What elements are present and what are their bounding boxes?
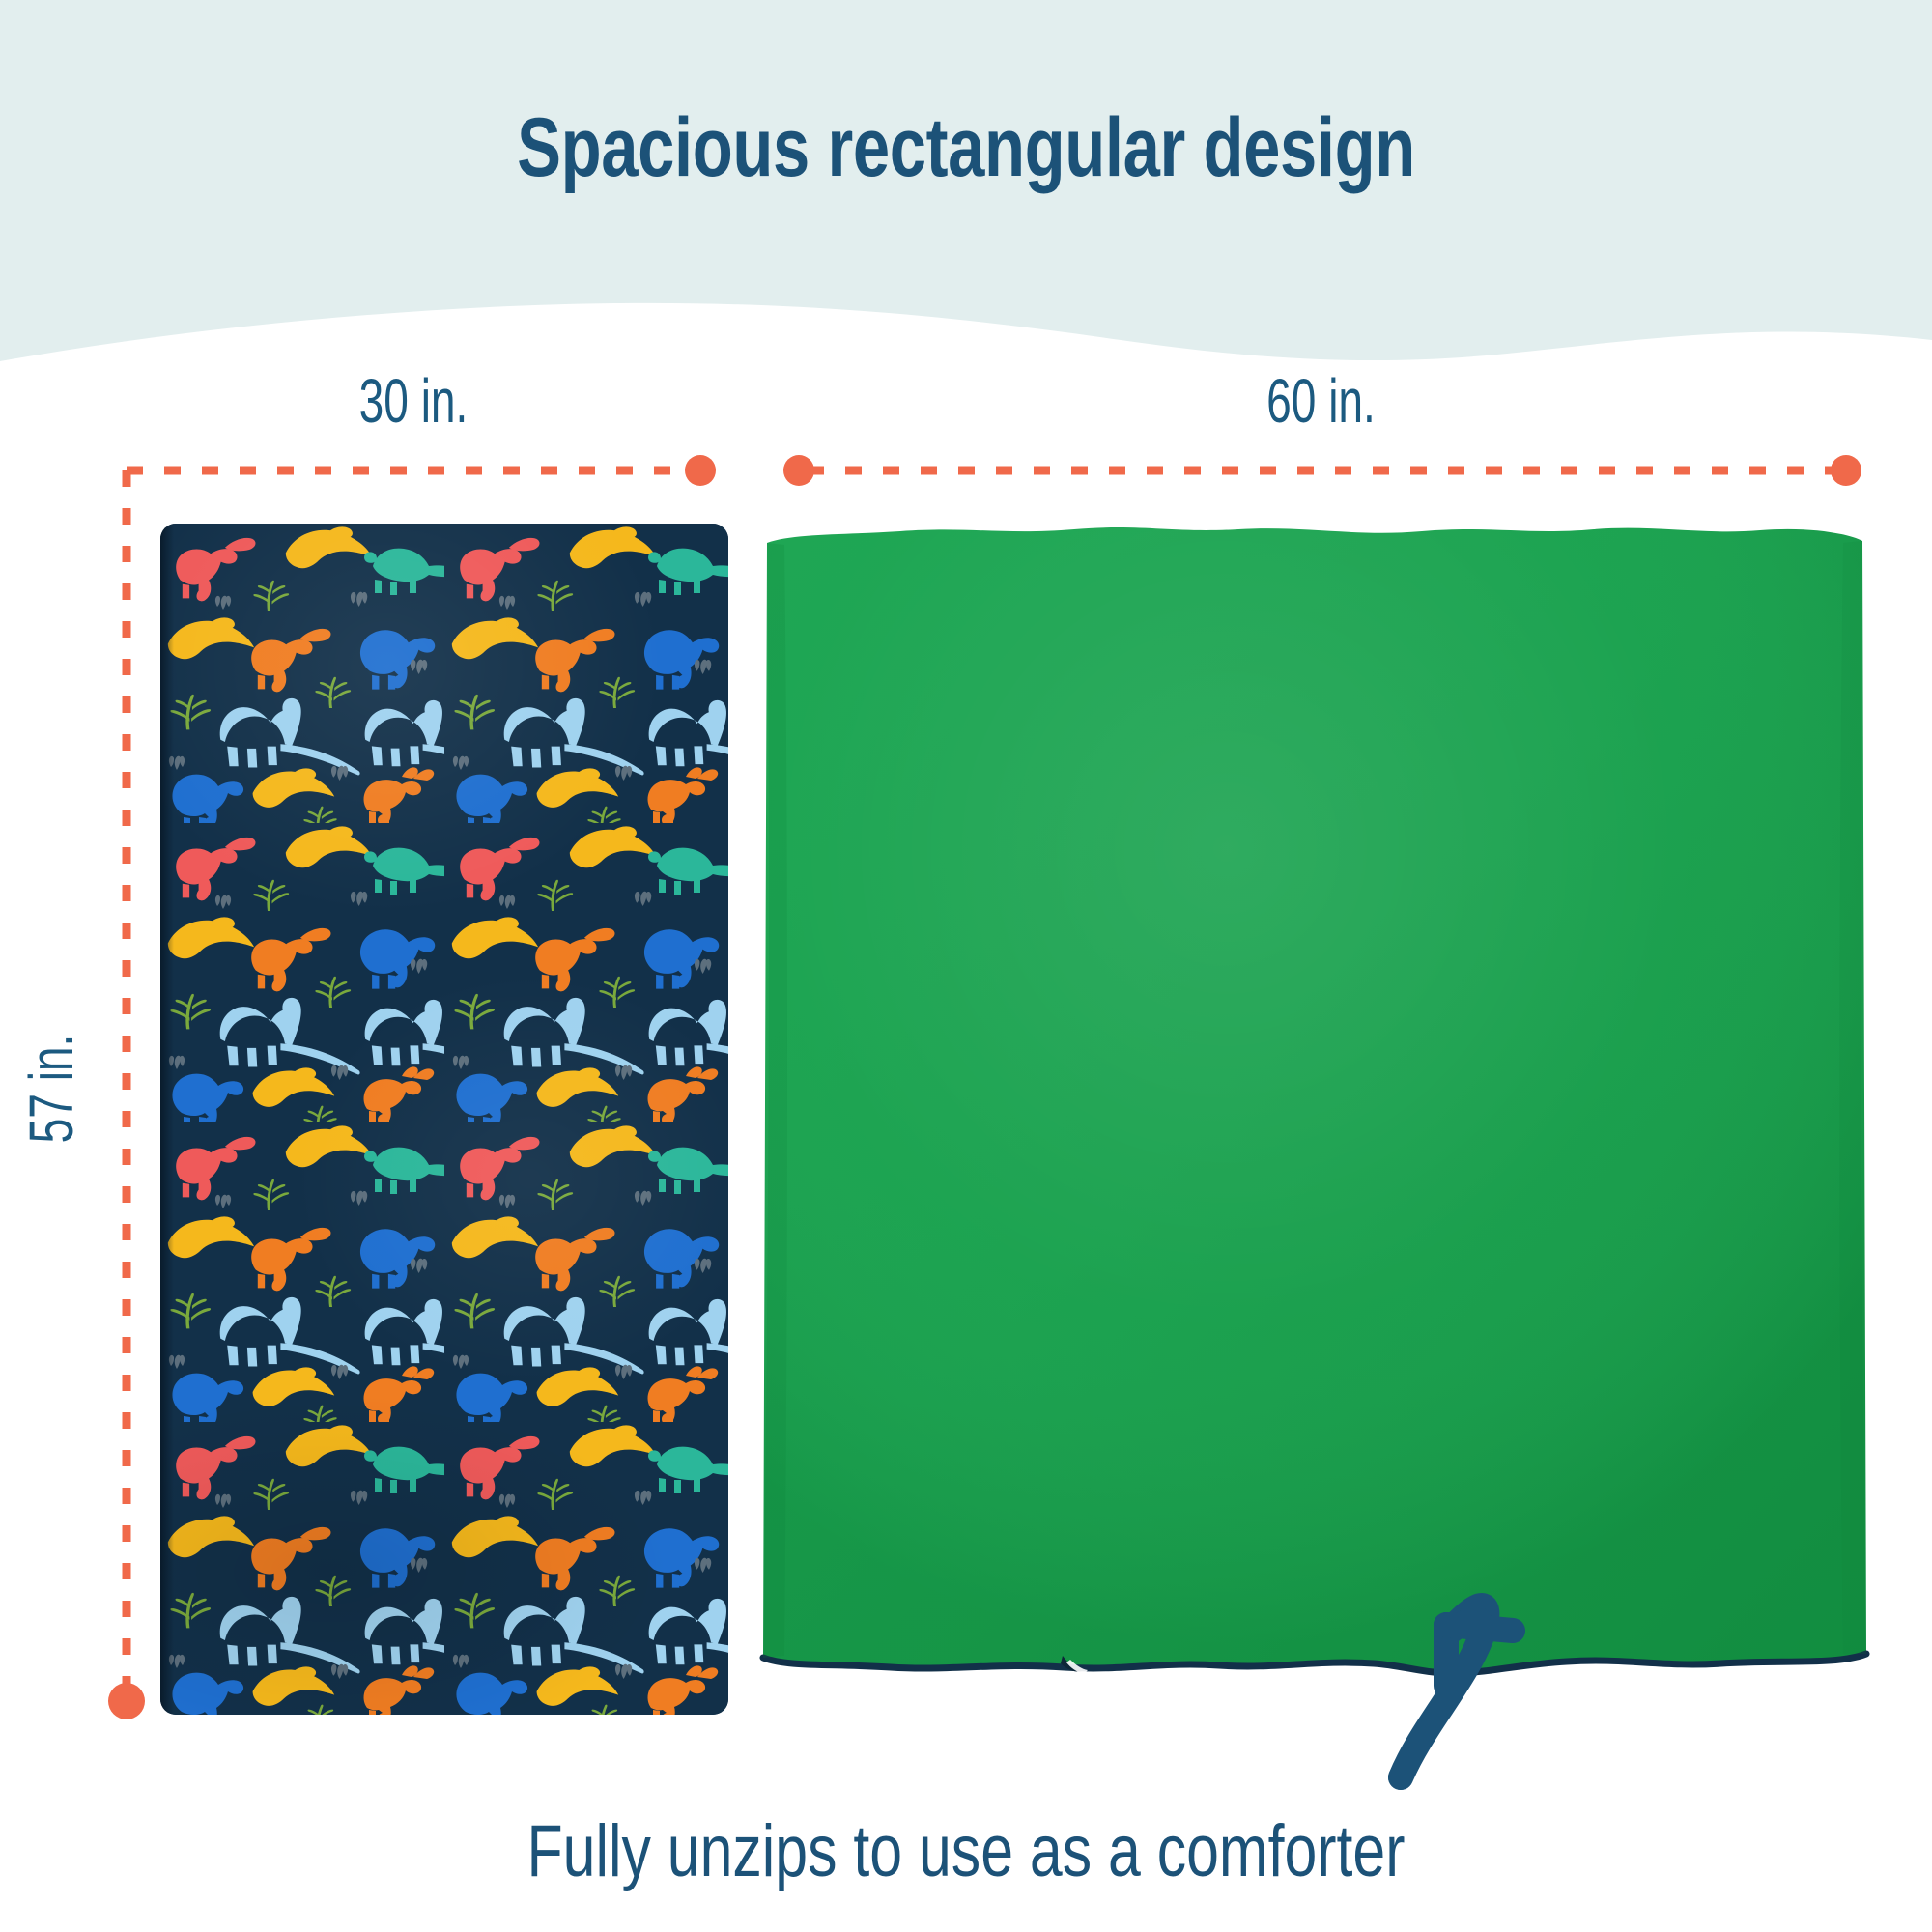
bottom-caption: Fully unzips to use as a comforter bbox=[193, 1809, 1739, 1893]
guide-dot-right-width-end bbox=[1831, 455, 1861, 486]
green-comforter-product bbox=[755, 518, 1870, 1712]
dimension-label-width-left: 30 in. bbox=[207, 365, 620, 437]
guide-dot-right-width-start bbox=[783, 455, 814, 486]
dinosaur-pattern bbox=[160, 524, 728, 1715]
infographic-canvas: Spacious rectangular design 30 in. 60 in… bbox=[0, 0, 1932, 1932]
page-title: Spacious rectangular design bbox=[193, 104, 1739, 191]
guide-dot-height-end bbox=[108, 1683, 145, 1719]
guide-dot-left-width-end bbox=[685, 455, 716, 486]
dimension-label-height: 57 in. bbox=[15, 1009, 87, 1169]
nap-mat-product bbox=[160, 524, 728, 1715]
dimension-label-width-right: 60 in. bbox=[944, 365, 1698, 437]
